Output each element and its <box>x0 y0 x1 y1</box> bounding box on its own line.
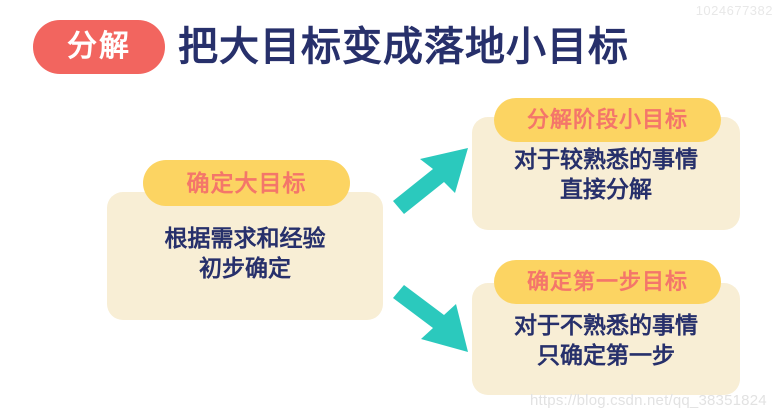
arrow-up-right-icon <box>390 142 476 218</box>
card-body-text: 根据需求和经验 初步确定 <box>107 223 383 284</box>
page-title: 把大目标变成落地小目标 <box>178 20 629 74</box>
badge-decompose-stage-small-goal: 分解阶段小目标 <box>494 98 721 142</box>
badge-determine-big-goal: 确定大目标 <box>143 160 350 206</box>
section-tag-pill: 分解 <box>33 20 165 74</box>
header: 分解 把大目标变成落地小目标 <box>0 0 781 92</box>
card-determine-big-goal: 根据需求和经验 初步确定 <box>107 192 383 320</box>
card-body-text: 对于较熟悉的事情 直接分解 <box>472 144 740 205</box>
card-body-text: 对于不熟悉的事情 只确定第一步 <box>472 310 740 371</box>
badge-determine-first-step-goal: 确定第一步目标 <box>494 260 721 304</box>
section-tag-label: 分解 <box>67 32 131 62</box>
infographic-canvas: 1024677382 分解 把大目标变成落地小目标 根据需求和经验 初步确定 确… <box>0 0 781 417</box>
bottom-watermark-url: https://blog.csdn.net/qq_38351824 <box>530 392 767 409</box>
arrow-down-right-icon <box>390 282 476 358</box>
